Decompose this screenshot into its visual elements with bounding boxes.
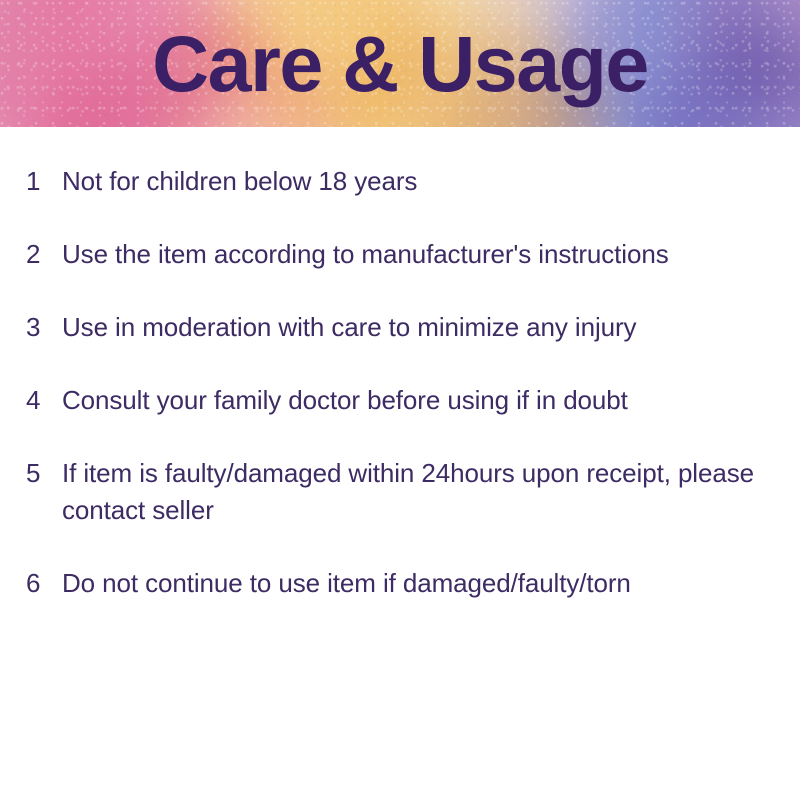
header-banner: Care & Usage (0, 0, 800, 127)
list-item: 2 Use the item according to manufacturer… (0, 236, 800, 273)
list-item-text: Consult your family doctor before using … (62, 382, 770, 419)
list-item: 4 Consult your family doctor before usin… (0, 382, 800, 419)
list-item-number: 5 (26, 455, 62, 492)
list-item-number: 4 (26, 382, 62, 419)
list-item-number: 6 (26, 565, 62, 602)
list-item: 6 Do not continue to use item if damaged… (0, 565, 800, 602)
list-item: 5 If item is faulty/damaged within 24hou… (0, 455, 800, 529)
list-item: 1 Not for children below 18 years (0, 163, 800, 200)
care-and-usage-list: 1 Not for children below 18 years 2 Use … (0, 127, 800, 638)
list-item: 3 Use in moderation with care to minimiz… (0, 309, 800, 346)
list-item-number: 3 (26, 309, 62, 346)
list-item-text: If item is faulty/damaged within 24hours… (62, 455, 770, 529)
list-item-text: Use the item according to manufacturer's… (62, 236, 770, 273)
list-item-text: Do not continue to use item if damaged/f… (62, 565, 770, 602)
list-item-text: Use in moderation with care to minimize … (62, 309, 770, 346)
page-title: Care & Usage (0, 0, 800, 127)
list-item-text: Not for children below 18 years (62, 163, 770, 200)
list-item-number: 1 (26, 163, 62, 200)
list-item-number: 2 (26, 236, 62, 273)
